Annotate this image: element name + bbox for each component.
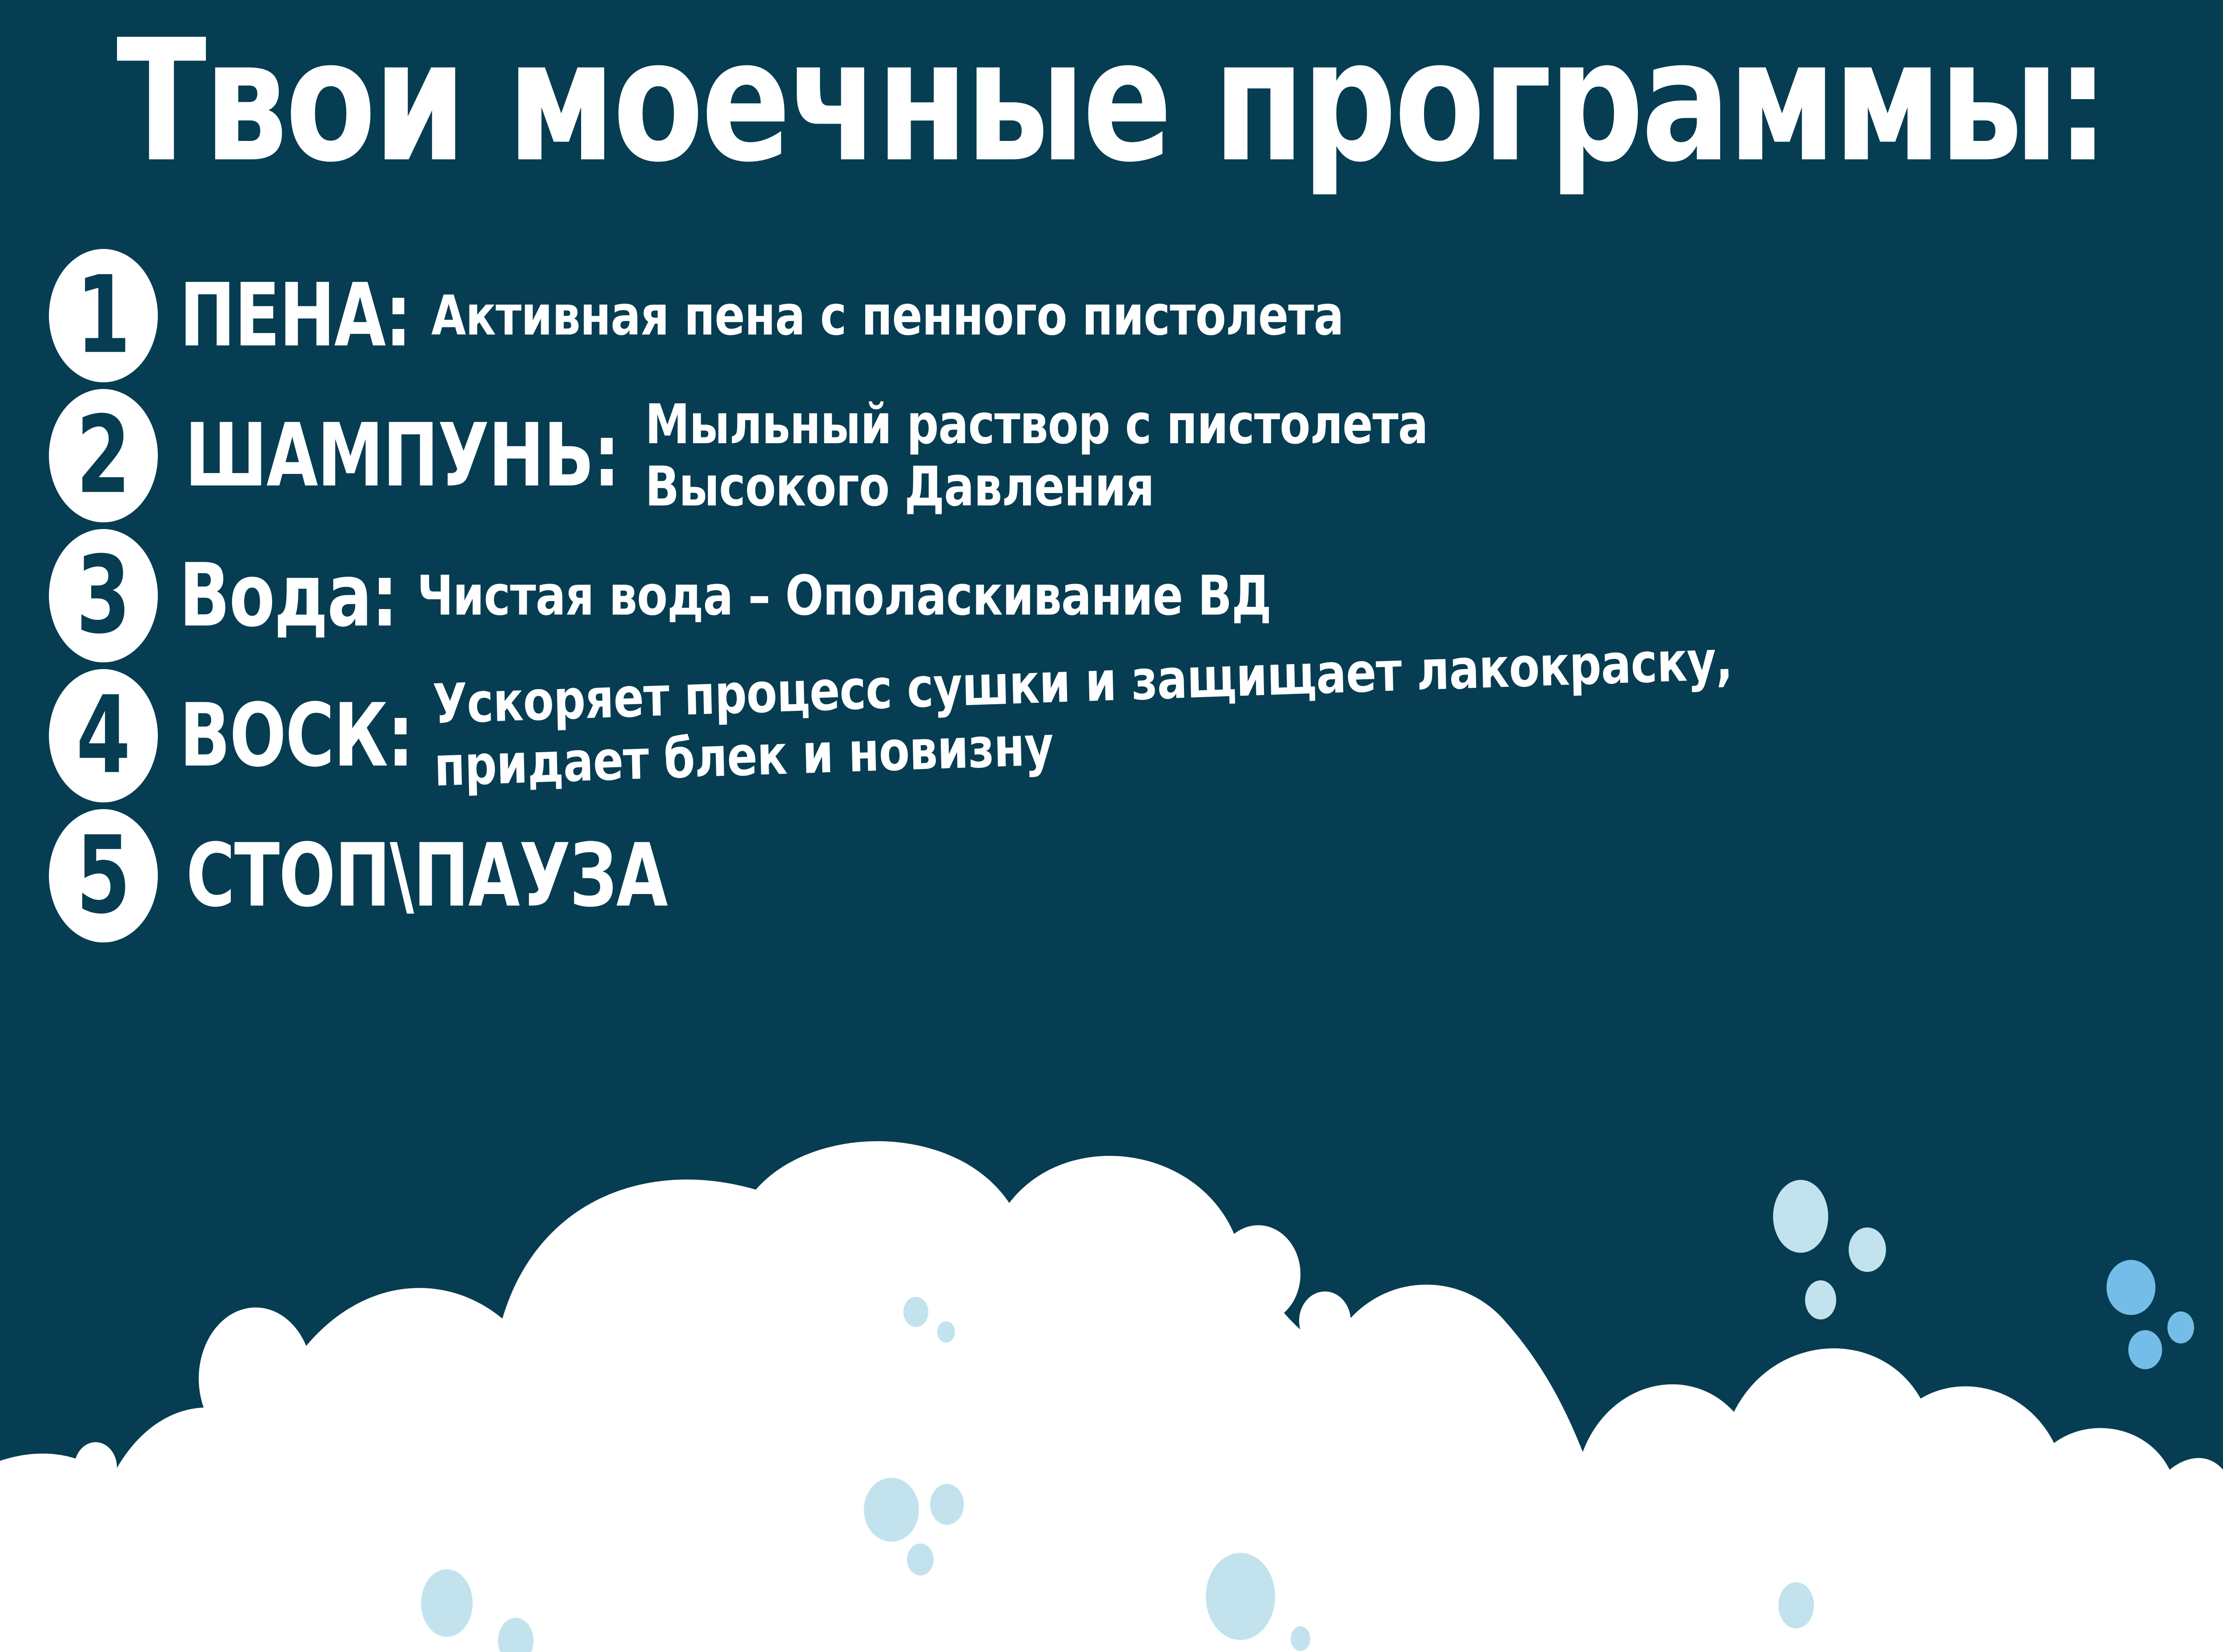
list-item: 5 СТОП\ПАУЗА xyxy=(49,809,2183,942)
program-list: 1 ПЕНА: Активная пена с пенного пистолет… xyxy=(49,249,2183,942)
page-title: Твои моечные программы: xyxy=(44,18,2179,186)
program-label: СТОП\ПАУЗА xyxy=(186,832,667,919)
step-number: 5 xyxy=(76,822,130,929)
floating-bubbles-white xyxy=(74,1225,1819,1545)
program-label: Вода: xyxy=(179,552,397,639)
program-label: ШАМПУНЬ: xyxy=(185,412,619,499)
wash-program-poster: Твои моечные программы: 1 ПЕНА: Активная… xyxy=(0,0,2223,1652)
program-label: ВОСК: xyxy=(180,692,413,779)
step-number: 1 xyxy=(76,262,130,369)
program-description: Чистая вода – Ополаскивание ВД xyxy=(417,565,1271,627)
foam-back-layer xyxy=(0,1141,2223,1652)
step-number-badge: 3 xyxy=(49,529,158,662)
step-number: 4 xyxy=(76,682,130,789)
step-number-badge: 5 xyxy=(49,809,158,942)
list-item: 4 ВОСК: Ускоряет процесс сушки и защищае… xyxy=(49,662,2183,809)
list-item: 3 Вода: Чистая вода – Ополаскивание ВД xyxy=(49,529,2183,662)
foam-decoration xyxy=(0,1141,2223,1652)
foam-front-layer xyxy=(0,1466,2223,1652)
program-description: Мыльный раствор с пистолета Высокого Дав… xyxy=(645,393,1428,518)
step-number: 2 xyxy=(76,402,130,509)
step-number-badge: 4 xyxy=(49,669,158,802)
program-description: Активная пена с пенного пистолета xyxy=(431,285,1344,347)
foam-bubbles-light xyxy=(421,1180,1886,1652)
step-number: 3 xyxy=(76,542,130,649)
floating-bubbles-blue xyxy=(2107,1260,2194,1369)
list-item: 1 ПЕНА: Активная пена с пенного пистолет… xyxy=(49,249,2183,382)
program-label: ПЕНА: xyxy=(180,272,411,359)
step-number-badge: 1 xyxy=(49,249,158,382)
step-number-badge: 2 xyxy=(49,389,158,522)
list-item: 2 ШАМПУНЬ: Мыльный раствор с пистолета В… xyxy=(49,382,2183,529)
